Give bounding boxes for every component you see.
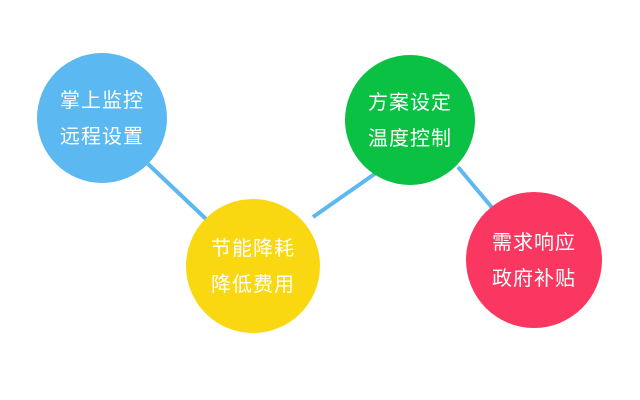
connector-monitoring-to-energy [148,164,206,219]
connector-energy-to-temperature [313,173,376,217]
node-label-line-1: 节能降耗 [211,230,295,266]
node-label-line-2: 降低费用 [211,266,295,302]
node-label-line-2: 温度控制 [368,120,452,156]
connector-temperature-to-demand [458,167,494,210]
node-demand-response[interactable]: 需求响应 政府补贴 [466,192,602,328]
node-temperature-control[interactable]: 方案设定 温度控制 [345,55,475,185]
node-label-line-1: 方案设定 [368,84,452,120]
diagram-canvas: 掌上监控 远程设置 节能降耗 降低费用 方案设定 温度控制 需求响应 政府补贴 [0,0,640,400]
node-label-line-2: 政府补贴 [492,260,576,296]
node-mobile-monitoring[interactable]: 掌上监控 远程设置 [37,53,167,183]
node-label-line-1: 需求响应 [492,224,576,260]
node-label-line-2: 远程设置 [60,118,144,154]
node-label-line-1: 掌上监控 [60,82,144,118]
node-energy-saving[interactable]: 节能降耗 降低费用 [186,199,320,333]
